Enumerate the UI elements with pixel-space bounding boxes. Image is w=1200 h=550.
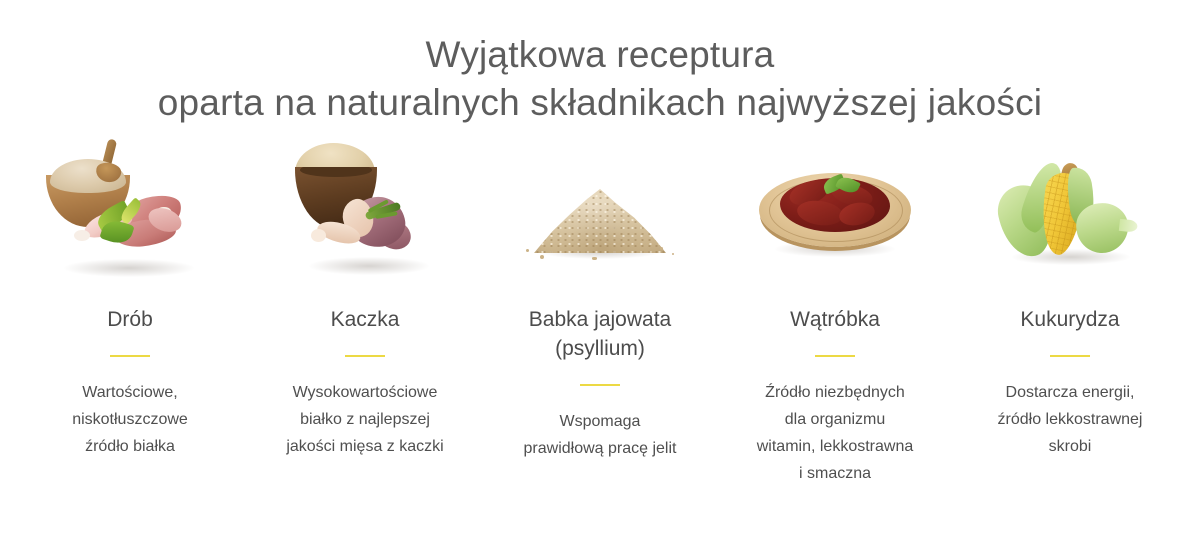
duck-illustration <box>265 137 465 277</box>
duck-bone-knuckle <box>311 229 326 242</box>
powder-crumb <box>672 253 674 255</box>
ingredient-card-watrobka: Wątróbka Źródło niezbędnych dla organizm… <box>718 132 953 487</box>
duck-image <box>265 132 465 277</box>
drop-shadow <box>309 257 429 275</box>
ingredient-title: Wątróbka <box>790 305 880 334</box>
powder-crumb <box>660 247 663 250</box>
psyllium-image <box>500 132 700 277</box>
title-divider <box>110 355 150 357</box>
liver-image <box>735 132 935 277</box>
page-title: Wyjątkowa receptura oparta na naturalnyc… <box>0 31 1200 127</box>
liver-illustration <box>735 137 935 277</box>
powder-crumb <box>526 249 529 252</box>
ingredient-description: Wspomaga prawidłową pracę jelit <box>524 408 677 462</box>
ingredient-title: Kukurydza <box>1020 305 1119 334</box>
ingredient-description: Wartościowe, niskotłuszczowe źródło biał… <box>72 379 188 460</box>
title-divider <box>345 355 385 357</box>
powder-grain-texture <box>534 189 666 253</box>
drumstick-bone <box>74 230 90 241</box>
powder-crumb <box>592 257 597 260</box>
ingredient-title: Drób <box>107 305 153 334</box>
poultry-image <box>30 132 230 277</box>
ingredient-title: Babka jajowata (psyllium) <box>529 305 671 363</box>
poultry-illustration <box>30 137 230 277</box>
corn-illustration <box>970 137 1170 277</box>
drop-shadow <box>64 259 194 277</box>
ingredient-card-drob: Drób Wartościowe, niskotłuszczowe źródło… <box>13 132 248 460</box>
psyllium-illustration <box>500 137 700 277</box>
ingredient-card-psyllium: Babka jajowata (psyllium) Wspomaga prawi… <box>483 132 718 462</box>
ingredient-description: Wysokowartościowe białko z najlepszej ja… <box>286 379 443 460</box>
ingredient-grid: Drób Wartościowe, niskotłuszczowe źródło… <box>0 132 1200 487</box>
title-divider <box>580 384 620 386</box>
ingredient-card-kukurydza: Kukurydza Dostarcza energii, źródło lekk… <box>953 132 1188 460</box>
ingredient-title: Kaczka <box>331 305 400 334</box>
ingredient-description: Źródło niezbędnych dla organizmu witamin… <box>757 379 914 487</box>
ingredient-card-kaczka: Kaczka Wysokowartościowe białko z najlep… <box>248 132 483 460</box>
title-divider <box>815 355 855 357</box>
page-title-line-1: Wyjątkowa receptura <box>0 31 1200 79</box>
title-divider <box>1050 355 1090 357</box>
ingredients-section: Wyjątkowa receptura oparta na naturalnyc… <box>0 0 1200 550</box>
corn-image <box>970 132 1170 277</box>
powder-crumb <box>540 255 544 259</box>
page-title-line-2: oparta na naturalnych składnikach najwyż… <box>0 79 1200 127</box>
ingredient-description: Dostarcza energii, źródło lekkostrawnej … <box>998 379 1143 460</box>
